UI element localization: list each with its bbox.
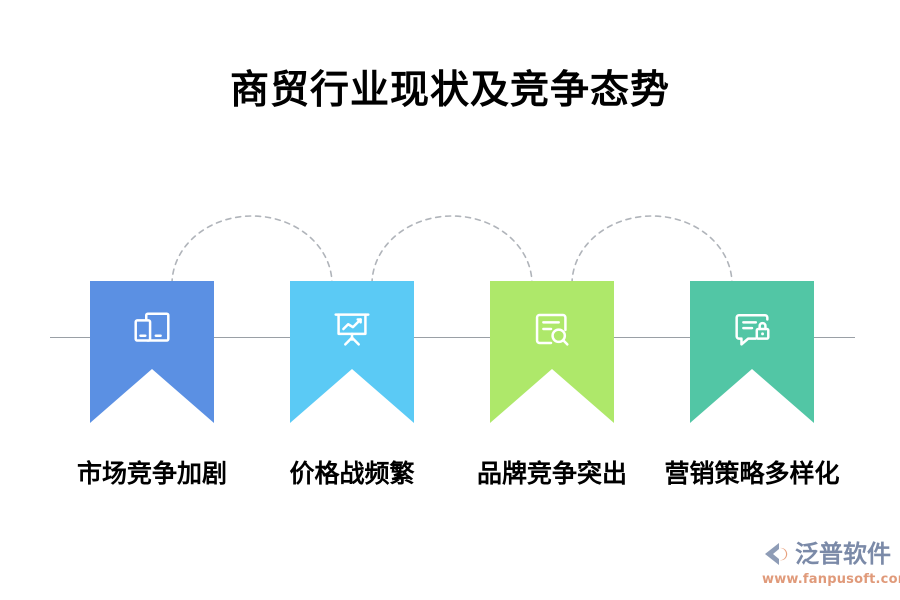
message-lock-icon: [729, 307, 775, 353]
watermark-row: 泛普软件: [762, 538, 892, 570]
watermark-logo: 泛普软件 www.fanpusoft.com: [762, 538, 892, 590]
stage-1-icon-slot: [90, 307, 214, 353]
slide-canvas: 商贸行业现状及竞争态势: [0, 0, 900, 600]
devices-icon: [129, 307, 175, 353]
fanpu-logo-icon: [762, 540, 792, 568]
watermark-url: www.fanpusoft.com: [762, 572, 892, 587]
page-title: 商贸行业现状及竞争态势: [0, 68, 900, 115]
stage-3-icon-slot: [490, 307, 614, 353]
stage-2-icon-slot: [290, 307, 414, 353]
stage-3[interactable]: [490, 281, 614, 423]
stage-4-icon-slot: [690, 307, 814, 353]
presentation-chart-icon: [329, 307, 375, 353]
connector-arc-2-3: [372, 216, 532, 284]
connector-arc-1-2: [172, 216, 332, 284]
stage-4-caption: 营销策略多样化: [647, 458, 857, 489]
stage-2[interactable]: [290, 281, 414, 423]
stage-4[interactable]: [690, 281, 814, 423]
stage-2-caption: 价格战频繁: [247, 458, 457, 489]
stage-1-caption: 市场竞争加剧: [47, 458, 257, 489]
connector-arc-3-4: [572, 216, 732, 284]
stage-3-caption: 品牌竞争突出: [447, 458, 657, 489]
document-search-icon: [529, 307, 575, 353]
stage-1[interactable]: [90, 281, 214, 423]
watermark-name: 泛普软件: [795, 542, 891, 566]
